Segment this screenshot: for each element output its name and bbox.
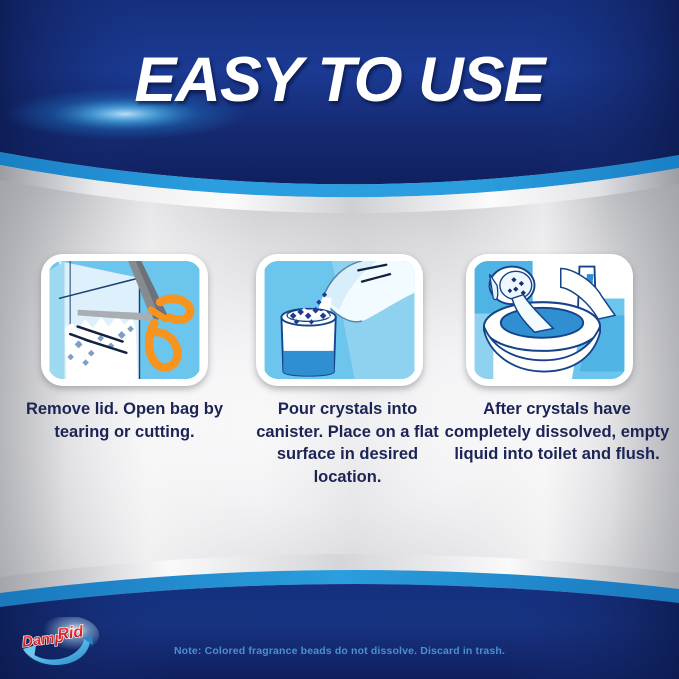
- footer: Damp Rid Note: Colored fragrance beads d…: [0, 549, 679, 679]
- bag-scissors-icon: [48, 261, 201, 379]
- footer-note: Note: Colored fragrance beads do not dis…: [0, 645, 679, 657]
- easy-to-use-infographic: EASY TO USE: [0, 0, 679, 679]
- step-panel-3[interactable]: [466, 254, 633, 386]
- step-panel-1[interactable]: [41, 254, 208, 386]
- step-panel-2[interactable]: [256, 254, 423, 386]
- damprid-logo[interactable]: Damp Rid: [14, 617, 100, 665]
- step-caption-1: Remove lid. Open bag by tearing or cutti…: [22, 398, 227, 443]
- step-panels: [0, 254, 679, 389]
- step-caption-3: After crystals have completely dissolved…: [442, 398, 672, 466]
- step-caption-2: Pour crystals into canister. Place on a …: [245, 398, 450, 488]
- logo-word-rid: Rid: [57, 623, 86, 643]
- toilet-flush-icon: [473, 261, 626, 379]
- pour-canister-icon: [263, 261, 416, 379]
- page-title: EASY TO USE: [0, 44, 679, 116]
- footer-curve-graphic: [0, 549, 679, 679]
- header: EASY TO USE: [0, 0, 679, 215]
